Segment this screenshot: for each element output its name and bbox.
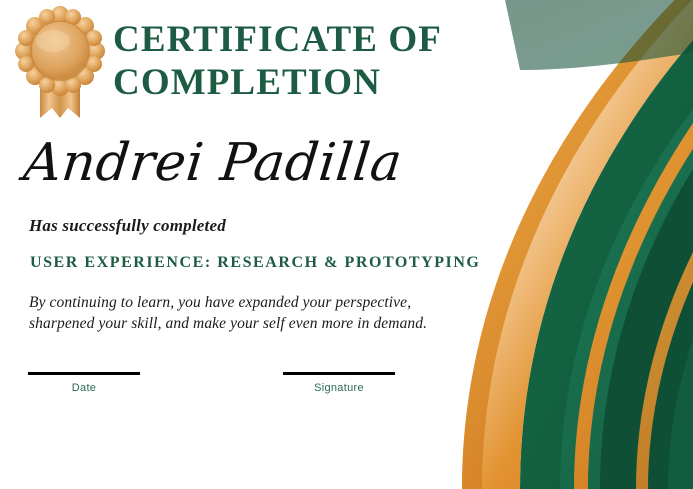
title-line-2: COMPLETION <box>113 61 473 104</box>
date-rule <box>28 372 140 375</box>
title-line-1: CERTIFICATE OF <box>113 18 473 61</box>
date-label: Date <box>28 382 140 394</box>
course-title: USER EXPERIENCE: RESEARCH & PROTOTYPING <box>30 254 480 272</box>
description-paragraph: By continuing to learn, you have expande… <box>29 292 474 334</box>
signature-rule <box>283 372 395 375</box>
date-field-group: Date <box>28 372 140 394</box>
award-seal-icon <box>14 6 106 124</box>
recipient-name: Andrei Padilla <box>21 130 406 196</box>
description-line-2: sharpened your skill, and make your self… <box>29 313 474 334</box>
completion-statement: Has successfully completed <box>29 216 226 236</box>
description-line-1: By continuing to learn, you have expande… <box>29 292 474 313</box>
signature-label: Signature <box>283 382 395 394</box>
page-title: CERTIFICATE OF COMPLETION <box>113 18 473 104</box>
signature-field-group: Signature <box>283 372 395 394</box>
certificate-document: CERTIFICATE OF COMPLETION Andrei Padilla… <box>0 0 693 489</box>
